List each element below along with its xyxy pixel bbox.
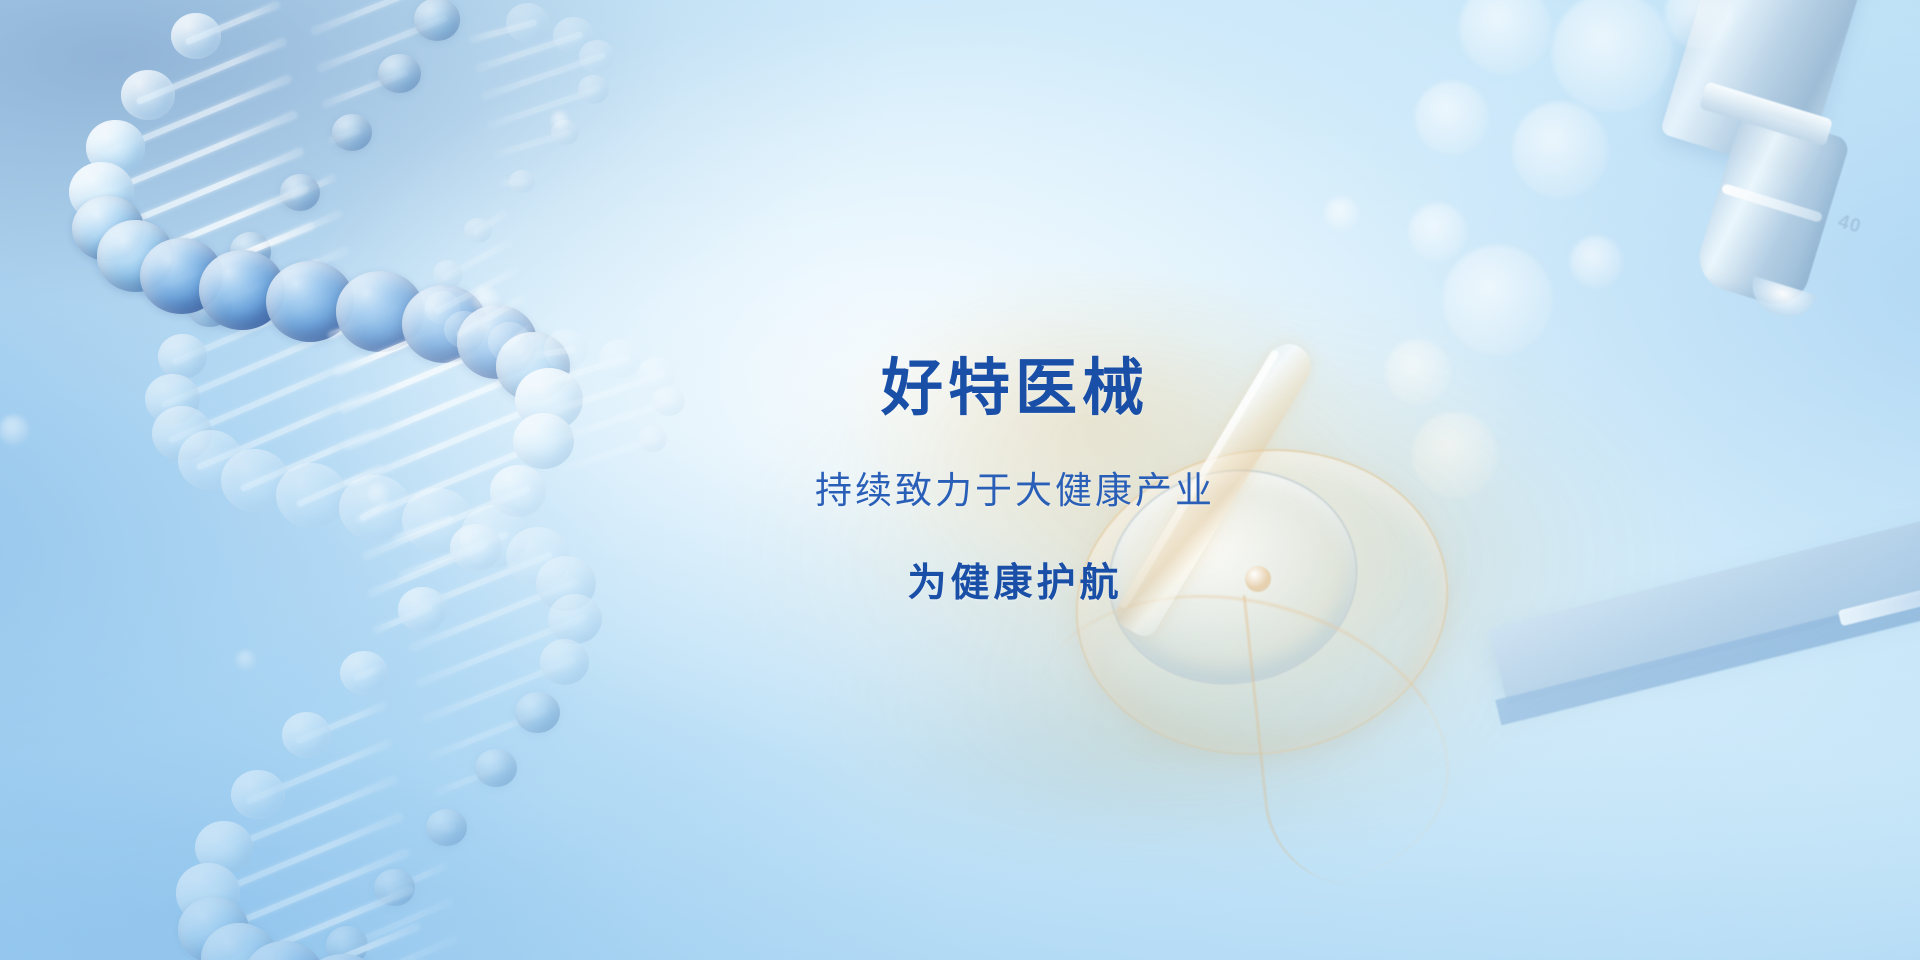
brand-title: 好特医械 [881,358,1149,420]
brand-tagline: 持续致力于大健康产业 [815,472,1215,509]
hero-text-block: 好特医械 持续致力于大健康产业 为健康护航 [0,0,1920,960]
brand-slogan: 为健康护航 [907,564,1122,603]
hero-banner: 40 好特医械 持续致力于大健康产业 为健康护航 [0,0,1920,960]
